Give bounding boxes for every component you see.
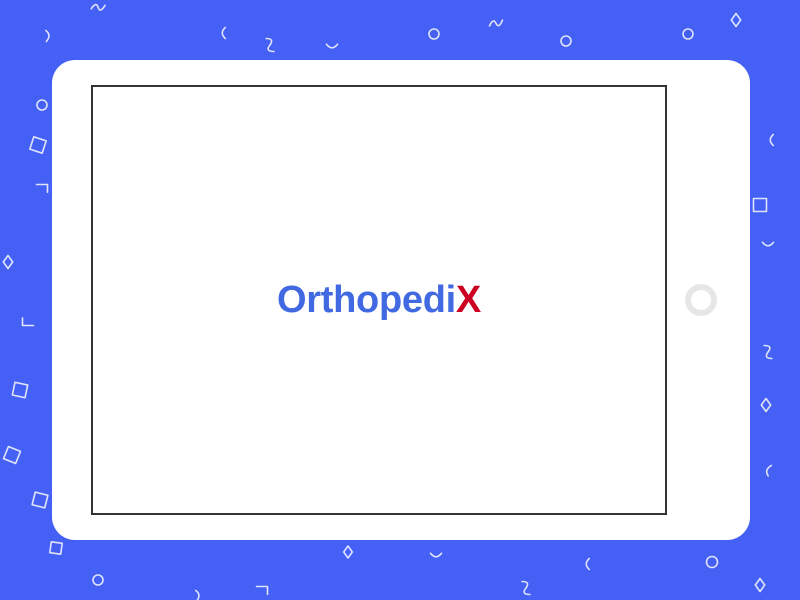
logo-accent-text: X bbox=[456, 279, 481, 321]
decorative-chevron-left-shape bbox=[222, 28, 225, 39]
decorative-square-shape bbox=[12, 382, 27, 397]
decorative-zigzag-shape bbox=[764, 346, 772, 359]
tablet-device: OrthopediX bbox=[52, 60, 750, 540]
decorative-chevron-down-shape bbox=[431, 553, 442, 557]
decorative-chevron-down-shape bbox=[763, 242, 774, 246]
decorative-diamond-shape bbox=[761, 399, 770, 412]
decorative-diamond-shape bbox=[755, 579, 764, 592]
decorative-hook-shape bbox=[46, 31, 49, 42]
decorative-diamond-shape bbox=[3, 256, 12, 269]
decorative-circle-shape bbox=[429, 29, 439, 39]
decorative-hook-shape bbox=[765, 465, 772, 476]
decorative-zigzag-shape bbox=[522, 582, 530, 595]
decorative-square-shape bbox=[4, 447, 21, 464]
decorative-chevron-down-shape bbox=[327, 44, 338, 48]
logo-primary-text: Orthopedi bbox=[277, 279, 456, 321]
decorative-diamond-shape bbox=[344, 546, 353, 558]
decorative-corner-shape bbox=[37, 185, 48, 193]
decorative-chevron-left-shape bbox=[770, 135, 773, 146]
decorative-square-shape bbox=[30, 137, 46, 153]
tablet-screen: OrthopediX bbox=[91, 85, 667, 515]
decorative-circle-shape bbox=[93, 575, 103, 585]
decorative-circle-shape bbox=[37, 100, 47, 110]
decorative-square-shape bbox=[754, 199, 767, 212]
decorative-squiggle-shape bbox=[91, 3, 105, 11]
decorative-circle-shape bbox=[707, 557, 718, 568]
app-logo: OrthopediX bbox=[277, 281, 481, 319]
decorative-zigzag-shape bbox=[266, 39, 274, 52]
app-canvas: OrthopediX bbox=[0, 0, 800, 600]
decorative-chevron-left-shape bbox=[586, 559, 589, 570]
decorative-hook-shape bbox=[196, 591, 199, 600]
home-button[interactable] bbox=[685, 284, 717, 316]
decorative-circle-shape bbox=[683, 29, 693, 39]
decorative-circle-shape bbox=[561, 36, 571, 46]
decorative-square-shape bbox=[32, 492, 48, 508]
decorative-squiggle-shape bbox=[490, 20, 503, 26]
decorative-square-shape bbox=[50, 542, 62, 554]
decorative-corner-shape bbox=[23, 318, 34, 326]
decorative-corner-shape bbox=[257, 587, 268, 595]
decorative-diamond-shape bbox=[731, 14, 740, 27]
